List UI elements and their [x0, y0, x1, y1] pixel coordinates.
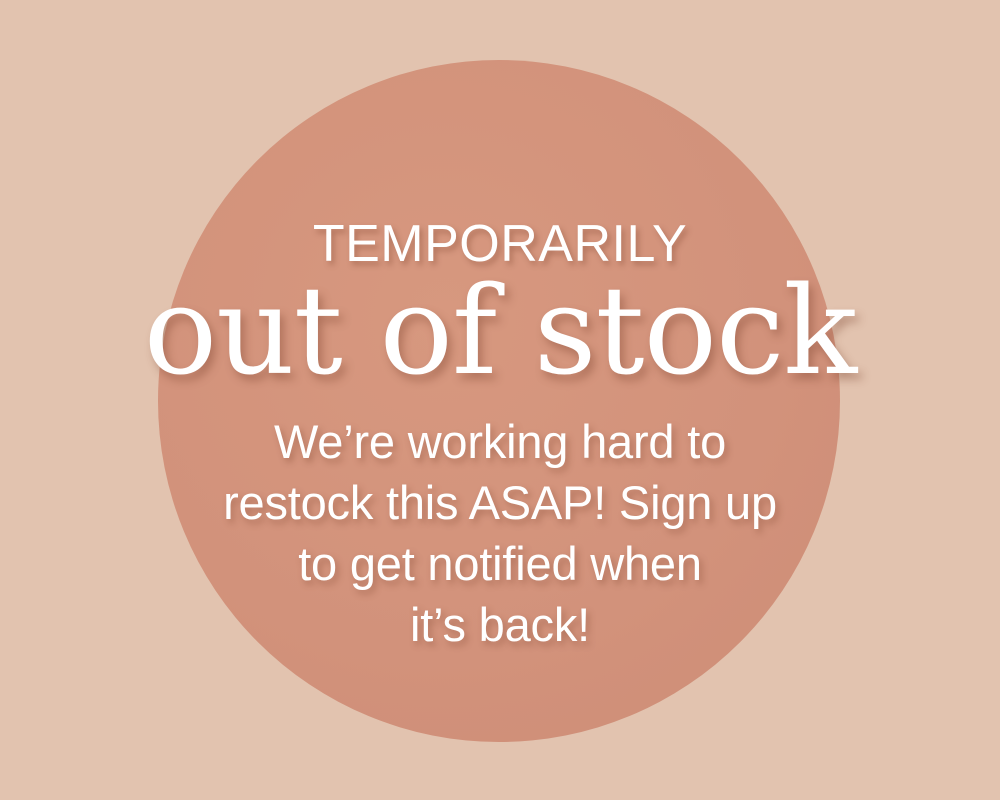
page-title: out of stock — [0, 272, 1000, 390]
body-line-4: it’s back! — [0, 594, 1000, 655]
body-line-1: We’re working hard to — [0, 411, 1000, 472]
body-copy: We’re working hard to restock this ASAP!… — [0, 411, 1000, 655]
body-line-3: to get notified when — [0, 533, 1000, 594]
body-line-2: restock this ASAP! Sign up — [0, 472, 1000, 533]
message-block: TEMPORARILY out of stock We’re working h… — [0, 0, 1000, 800]
out-of-stock-graphic: TEMPORARILY out of stock We’re working h… — [0, 0, 1000, 800]
